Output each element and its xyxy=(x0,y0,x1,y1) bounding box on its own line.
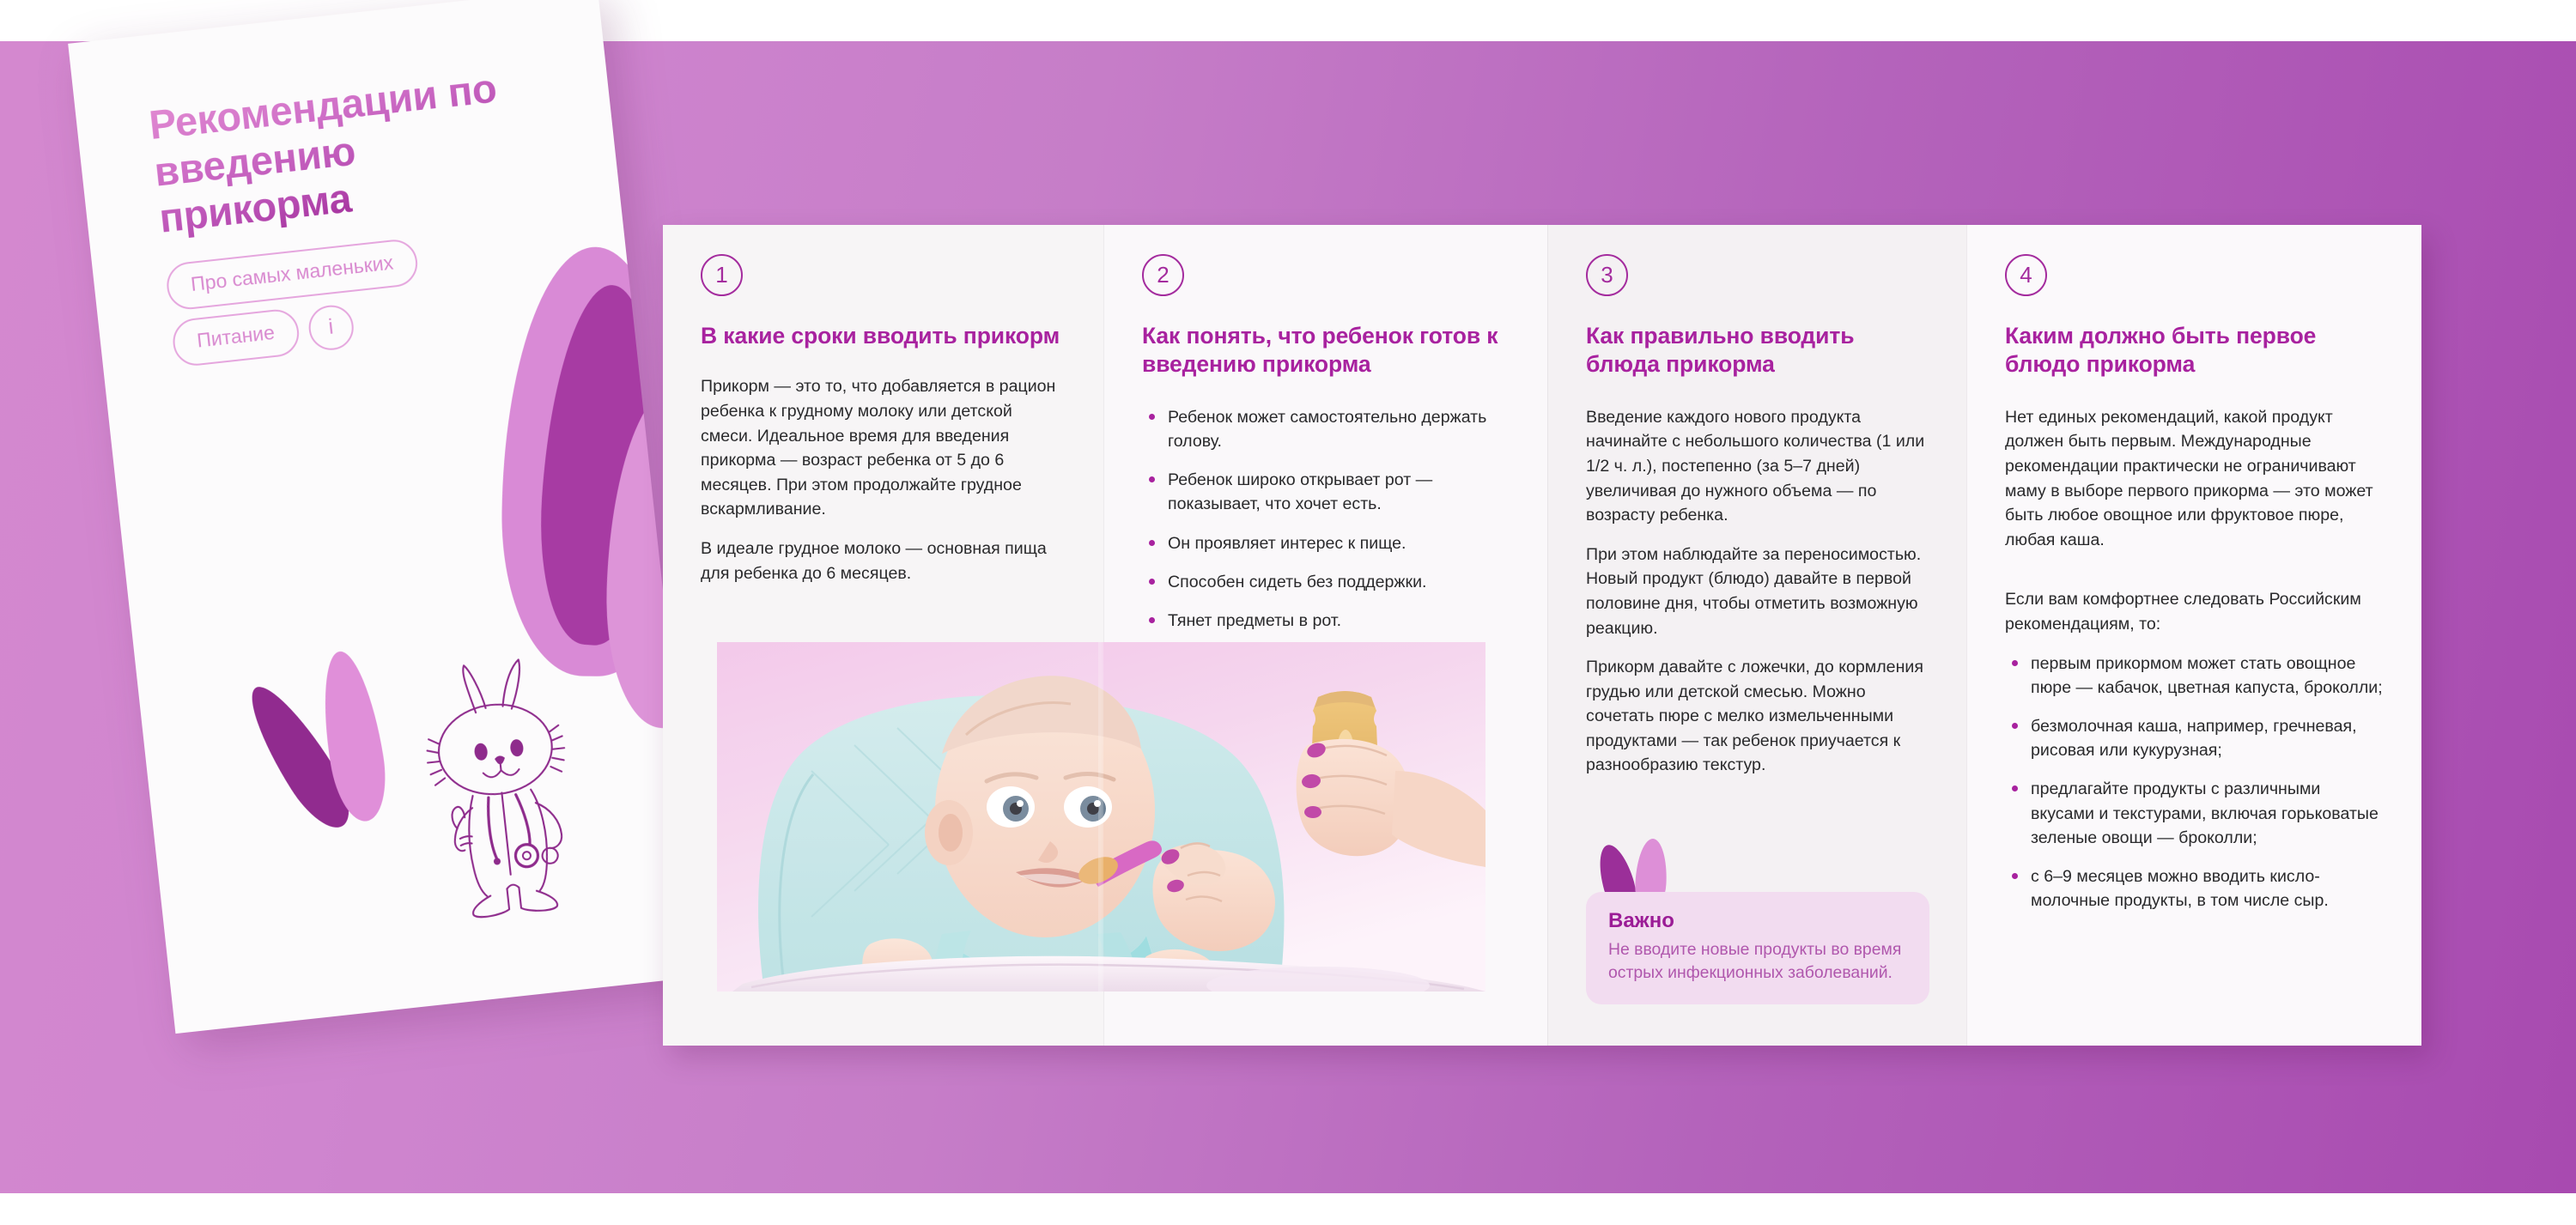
bunny-doctor-mascot-icon xyxy=(392,646,633,925)
list-item: предлагайте продукты с различными вкусам… xyxy=(2005,777,2384,850)
list-item: с 6–9 месяцев можно вводить кисло-молочн… xyxy=(2005,864,2384,913)
list-item: Он проявляет интерес к пище. xyxy=(1142,531,1510,555)
panel-3-paragraph-2: При этом наблюдайте за переносимостью. Н… xyxy=(1586,543,1929,640)
panel-1-title: В какие сроки вводить прикорм xyxy=(701,322,1066,350)
step-number-1: 1 xyxy=(701,254,743,296)
list-item: безмолочная каша, например, гречневая, р… xyxy=(2005,714,2384,762)
panel-4-title: Каким должно быть первое блюдо прикорма xyxy=(2005,322,2384,379)
important-bunny-ears-icon xyxy=(1601,844,1929,892)
panel-4-paragraph-2: Если вам комфортнее следовать Российским… xyxy=(2005,587,2384,636)
brochure-panel-3: 3 Как правильно вводить блюда прикорма В… xyxy=(1547,225,1966,1046)
important-title: Важно xyxy=(1608,909,1907,933)
info-icon[interactable]: i xyxy=(307,303,355,352)
panel-3-paragraph-1: Введение каждого нового продукта начинай… xyxy=(1586,405,1929,528)
brochure-panel-4: 4 Каким должно быть первое блюдо прикорм… xyxy=(1966,225,2421,1046)
panel-1-paragraph-2: В идеале грудное молоко — основная пища … xyxy=(701,537,1066,585)
important-text: Не вводите новые продукты во время остры… xyxy=(1608,938,1907,984)
list-item: первым прикормом может стать овощное пюр… xyxy=(2005,652,2384,700)
panel-3-paragraph-3: Прикорм давайте с ложечки, до кормления … xyxy=(1586,655,1929,778)
brochure-spread: 1 В какие сроки вводить прикорм Прикорм … xyxy=(663,225,2421,1046)
list-item: Способен сидеть без поддержки. xyxy=(1142,570,1510,594)
important-callout: Важно Не вводите новые продукты во время… xyxy=(1586,844,1929,1004)
feeding-photo xyxy=(717,642,1485,992)
step-number-4: 4 xyxy=(2005,254,2047,296)
panel-4-paragraph-1: Нет единых рекомендаций, какой продукт д… xyxy=(2005,405,2384,553)
step-number-3: 3 xyxy=(1586,254,1628,296)
tag-pitanie[interactable]: Питание xyxy=(171,307,301,368)
cover-tag-list: Про самых маленьких Питание i xyxy=(165,221,579,377)
step-number-2: 2 xyxy=(1142,254,1184,296)
feeding-photo-illustration xyxy=(717,642,1485,992)
list-item: Ребенок может самостоятельно держать гол… xyxy=(1142,405,1510,453)
list-item: Ребенок широко открывает рот — показывае… xyxy=(1142,468,1510,516)
screenshot-canvas: Рекомендации по введению прикорма Про са… xyxy=(0,0,2576,1225)
panel-4-bullet-list: первым прикормом может стать овощное пюр… xyxy=(2005,652,2384,913)
panel-2-title: Как понять, что ребенок готов к введению… xyxy=(1142,322,1510,379)
brochure-cover: Рекомендации по введению прикорма Про са… xyxy=(68,0,705,1034)
panel-1-paragraph-1: Прикорм — это то, что добавляется в раци… xyxy=(701,374,1066,522)
cover-title: Рекомендации по введению прикорма xyxy=(147,59,563,242)
list-item: Тянет предметы в рот. xyxy=(1142,609,1510,633)
panel-3-title: Как правильно вводить блюда прикорма xyxy=(1586,322,1929,379)
panel-2-bullet-list: Ребенок может самостоятельно держать гол… xyxy=(1142,405,1510,672)
